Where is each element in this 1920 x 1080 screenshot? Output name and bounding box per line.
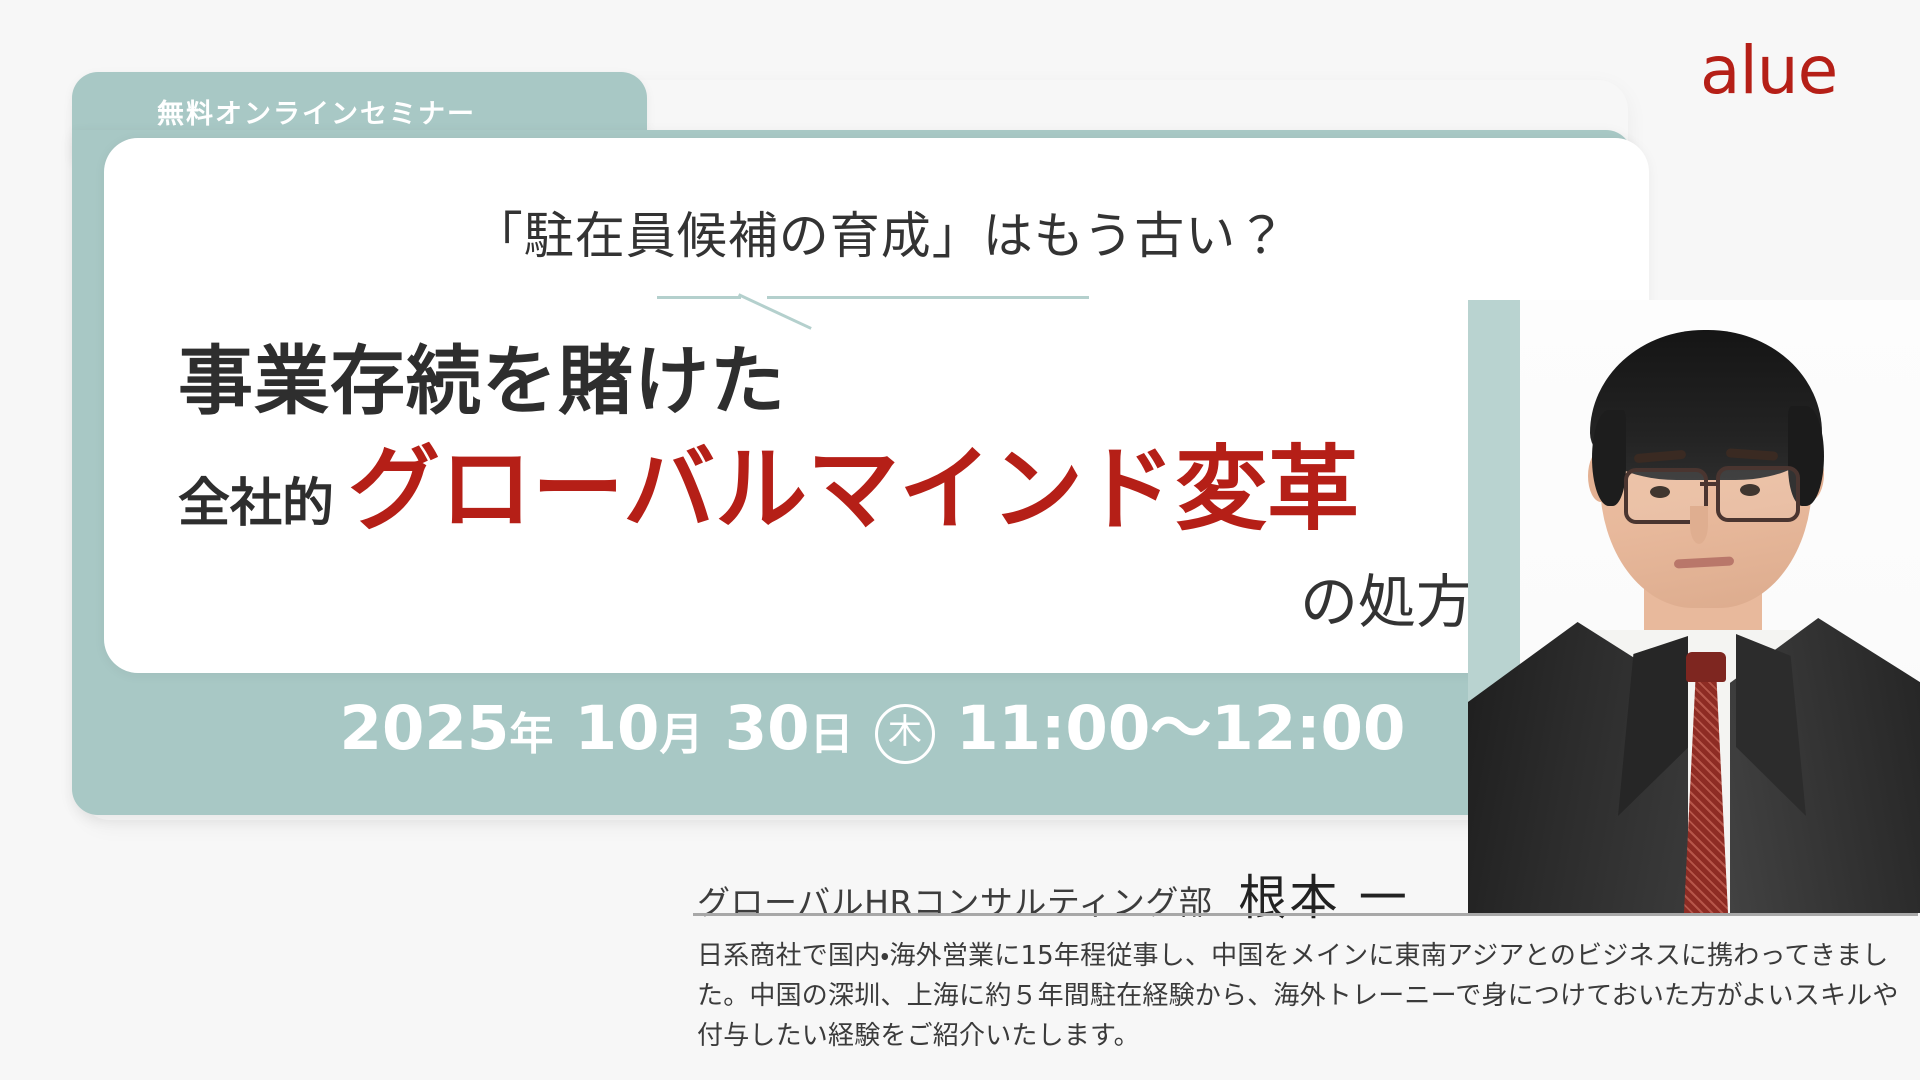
speaker-divider: [693, 913, 1918, 916]
schedule-day: 30: [725, 693, 810, 764]
speaker-department: グローバルHRコンサルティング部: [697, 876, 1212, 924]
alue-logo: alue: [1700, 38, 1837, 104]
headline-line-2-accent: グローバルマインド変革: [348, 440, 1359, 540]
schedule-year: 2025: [340, 693, 510, 764]
speaker-bio-text: 日系商社で国内・海外営業に15年程従事し、中国をメインに東南アジアとのビジネスに…: [697, 936, 1919, 1056]
speaker-name: 根本 一: [1238, 858, 1409, 928]
photo-eyeglass-right: [1716, 466, 1800, 522]
photo-eyeglass-bridge: [1700, 482, 1718, 486]
seminar-badge-label: 無料オンラインセミナー: [157, 92, 476, 131]
photo-necktie-knot: [1686, 652, 1726, 682]
headline-kicker: 「駐在員候補の育成」はもう古い？: [0, 205, 1760, 267]
schedule-weekday-badge: 木: [875, 704, 935, 764]
headline-line-2-prefix: 全社的: [178, 474, 334, 534]
photo-nose: [1690, 506, 1708, 544]
headline-line-1: 事業存続を賭けた: [178, 338, 786, 424]
seminar-banner: alue 無料オンラインセミナー 「駐在員候補の育成」はもう古い？ 事業存続を賭…: [0, 0, 1920, 1080]
photo-teal-strip: [1468, 300, 1520, 704]
schedule-day-unit: 日: [810, 709, 854, 760]
speaker-photo: [1468, 300, 1920, 913]
schedule-time: 11:00〜12:00: [956, 693, 1405, 764]
speech-tail-left-rule: [657, 296, 741, 299]
speaker-heading: グローバルHRコンサルティング部 根本 一: [697, 858, 1410, 928]
schedule-year-unit: 年: [509, 709, 553, 760]
headline-line-2: 全社的 グローバルマインド変革: [178, 440, 1359, 540]
schedule-month-unit: 月: [659, 709, 703, 760]
schedule-month: 10: [575, 693, 660, 764]
photo-hair-side-left: [1592, 410, 1626, 506]
speech-tail-right-rule: [767, 296, 1089, 299]
speaker-bio: 日系商社で国内・海外営業に15年程従事し、中国をメインに東南アジアとのビジネスに…: [697, 936, 1919, 1056]
